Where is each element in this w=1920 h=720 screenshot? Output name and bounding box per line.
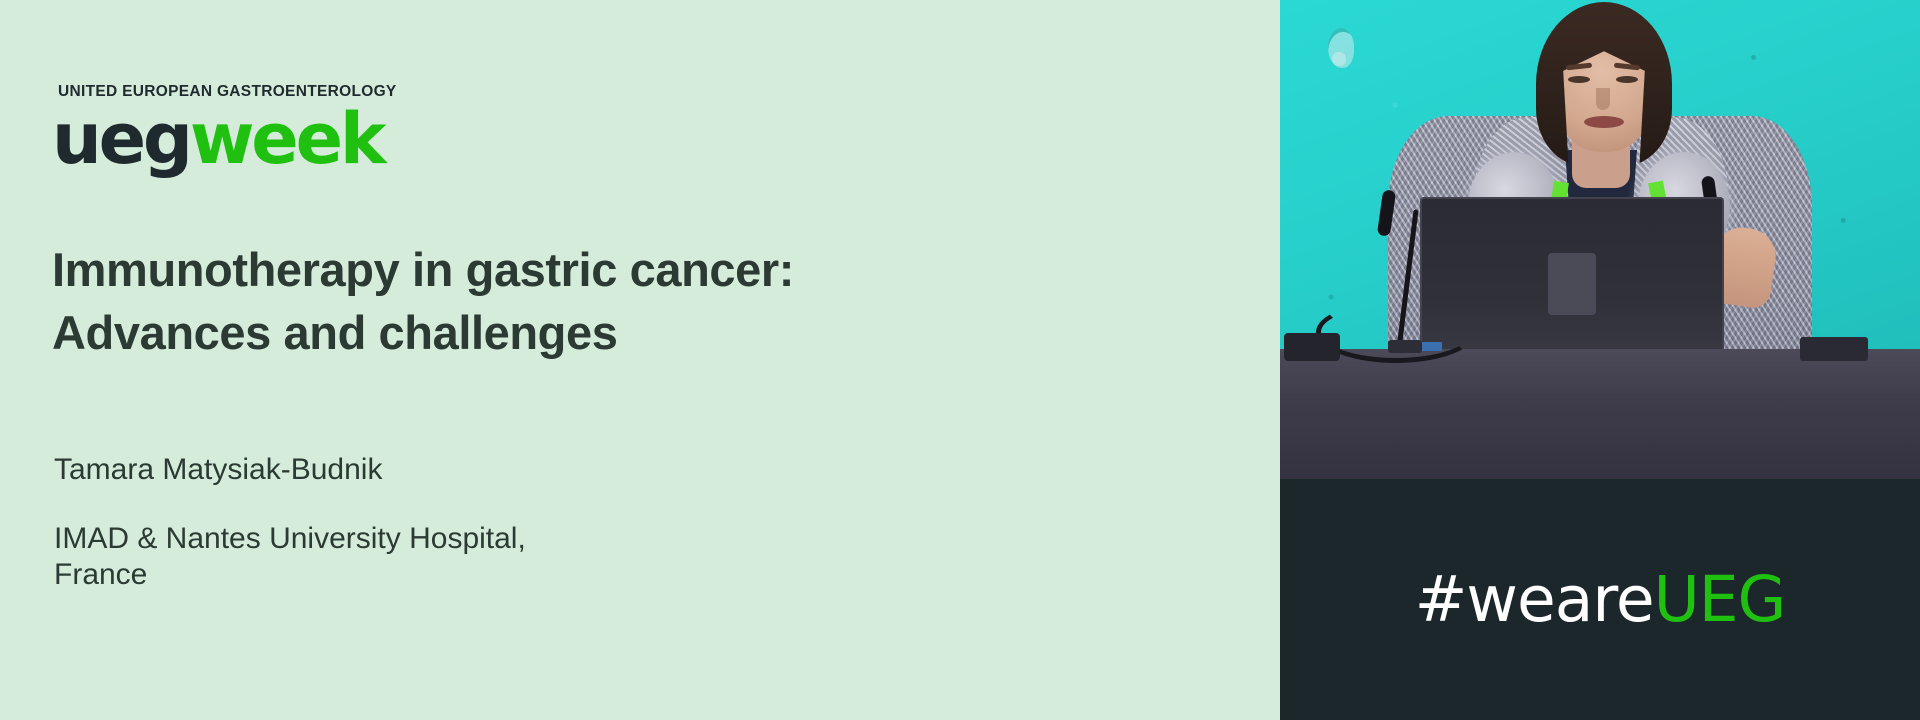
speaker-nose [1596,88,1610,110]
presentation-slide: UNITED EUROPEAN GASTROENTEROLOGY uegweek… [0,0,1920,720]
speaker-mouth [1584,116,1624,128]
page-title: Immunotherapy in gastric cancer: Advance… [52,238,1152,364]
hashtag-prefix: #weare [1415,563,1654,636]
hashtag-text: #weareUEG [1280,479,1920,720]
logo-wordmark-week: week [190,98,383,180]
logo-wordmark: uegweek [52,104,472,174]
equipment-box-left [1284,333,1340,361]
equipment-box-right [1800,337,1868,361]
title-panel: UNITED EUROPEAN GASTROENTEROLOGY uegweek… [0,0,1280,720]
audio-cable [1316,301,1476,363]
speaker-eye-left [1568,76,1590,83]
video-panel: #weareUEG [1280,0,1920,720]
speaker-affiliation: IMAD & Nantes University Hospital, Franc… [54,521,526,593]
logo-wordmark-ueg: ueg [52,98,190,180]
hashtag-banner: #weareUEG [1280,479,1920,720]
podium-body [1280,349,1920,479]
speaker-video-feed[interactable] [1280,0,1920,479]
speaker-eye-right [1616,76,1638,83]
laptop-logo-icon [1548,253,1596,315]
speaker-name: Tamara Matysiak-Budnik [54,452,382,488]
cable-connector [1388,340,1422,353]
wall-blemish-secondary-icon [1332,52,1346,66]
ueg-week-logo: UNITED EUROPEAN GASTROENTEROLOGY uegweek [52,83,472,174]
hashtag-suffix: UEG [1654,563,1786,636]
